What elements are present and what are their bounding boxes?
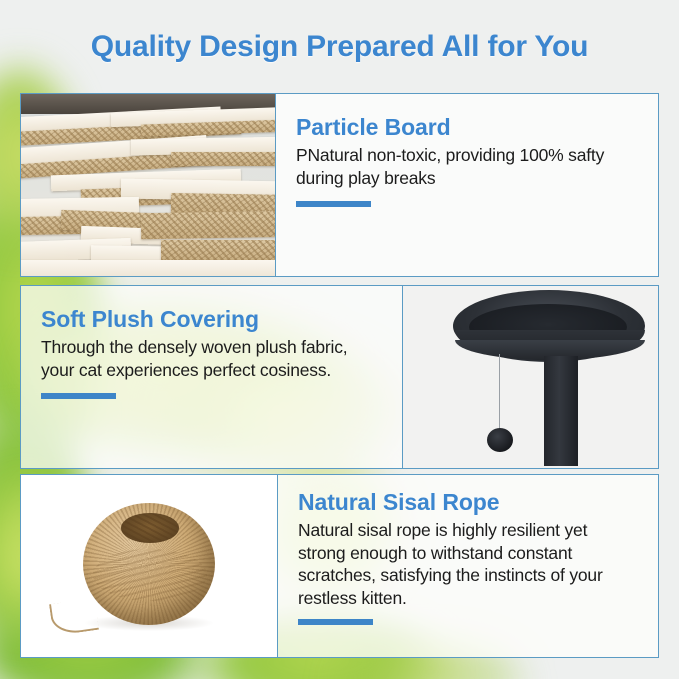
- card-heading: Soft Plush Covering: [41, 306, 382, 332]
- sisal-rope-image: [21, 475, 278, 657]
- board-plank: [141, 211, 275, 240]
- card-body-text: PNatural non-toxic, providing 100% safty…: [296, 144, 638, 189]
- rope-loose-end: [49, 598, 99, 636]
- card-body-text: Through the densely woven plush fabric, …: [41, 336, 382, 381]
- board-plank: [161, 240, 275, 260]
- sisal-rope-copy: Natural Sisal Rope Natural sisal rope is…: [278, 475, 658, 657]
- feature-card-natural-sisal-rope: Natural Sisal Rope Natural sisal rope is…: [20, 474, 659, 658]
- board-plank: [21, 260, 275, 276]
- cat-perch-artwork: [403, 286, 658, 468]
- card-body-text: Natural sisal rope is highly resilient y…: [298, 519, 638, 609]
- infographic-page: Quality Design Prepared All for You: [0, 0, 679, 679]
- particle-board-artwork: [21, 94, 275, 276]
- rope-ball-wrap-strands: [93, 549, 207, 601]
- soft-plush-copy: Soft Plush Covering Through the densely …: [21, 286, 402, 468]
- accent-bar: [296, 201, 371, 207]
- card-heading: Natural Sisal Rope: [298, 489, 638, 515]
- particle-board-image: [21, 94, 276, 276]
- accent-bar: [298, 619, 373, 625]
- feature-card-soft-plush-covering: Soft Plush Covering Through the densely …: [20, 285, 659, 469]
- card-heading: Particle Board: [296, 114, 638, 140]
- board-plank: [171, 152, 275, 166]
- pompom-string: [499, 354, 500, 430]
- page-title: Quality Design Prepared All for You: [0, 30, 679, 64]
- accent-bar: [41, 393, 116, 399]
- perch-support-post: [544, 356, 578, 466]
- plush-perch-image: [402, 286, 658, 468]
- particle-board-copy: Particle Board PNatural non-toxic, provi…: [276, 94, 658, 276]
- rope-ball-center-hole: [121, 513, 179, 543]
- feature-card-particle-board: Particle Board PNatural non-toxic, provi…: [20, 93, 659, 277]
- pompom-ball: [487, 428, 513, 452]
- rope-ball-artwork: [21, 475, 277, 657]
